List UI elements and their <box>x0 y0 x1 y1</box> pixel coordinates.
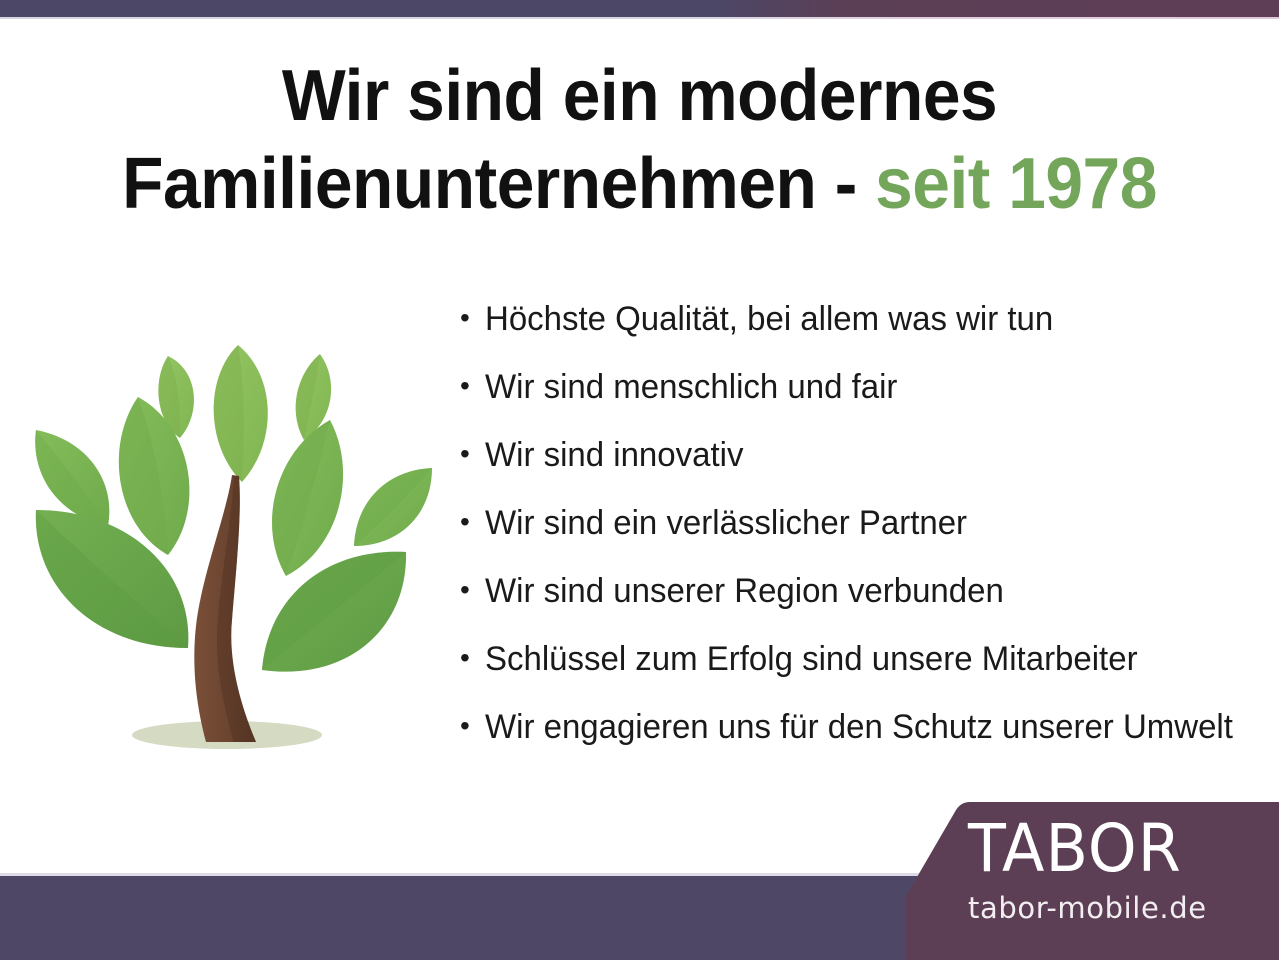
title-line-1: Wir sind ein modernes <box>38 52 1240 140</box>
list-item: • Wir engagieren uns für den Schutz unse… <box>455 706 1265 774</box>
logo-wordmark: TABOR <box>968 815 1268 883</box>
value-bullet-list: • Höchste Qualität, bei allem was wir tu… <box>455 298 1265 774</box>
leaf-far-right-small <box>354 468 432 546</box>
list-item: • Wir sind menschlich und fair <box>455 366 1265 434</box>
list-item-label: Schlüssel zum Erfolg sind unsere Mitarbe… <box>485 638 1242 680</box>
bullet-dot-icon: • <box>455 298 485 338</box>
bullet-dot-icon: • <box>455 366 485 406</box>
list-item: • Wir sind unserer Region verbunden <box>455 570 1265 638</box>
bullet-dot-icon: • <box>455 502 485 542</box>
bullet-dot-icon: • <box>455 706 485 746</box>
list-item-label: Wir sind ein verlässlicher Partner <box>485 502 1242 544</box>
list-item: • Höchste Qualität, bei allem was wir tu… <box>455 298 1265 366</box>
list-item: • Schlüssel zum Erfolg sind unsere Mitar… <box>455 638 1265 706</box>
tree-illustration-svg <box>20 330 450 760</box>
tree-trunk <box>194 475 256 742</box>
title-line-2-main: Familienunternehmen - <box>122 144 875 224</box>
list-item-label: Wir sind menschlich und fair <box>485 366 1242 408</box>
tree-illustration <box>20 330 450 760</box>
list-item-label: Wir sind innovativ <box>485 434 1242 476</box>
bullet-dot-icon: • <box>455 434 485 474</box>
title-accent-since-1978: seit 1978 <box>875 144 1157 224</box>
top-accent-bar-underline <box>0 17 1279 19</box>
bullet-dot-icon: • <box>455 570 485 610</box>
logo-lockup[interactable]: TABOR tabor-mobile.de <box>968 815 1268 927</box>
list-item: • Wir sind ein verlässlicher Partner <box>455 502 1265 570</box>
list-item: • Wir sind innovativ <box>455 434 1265 502</box>
leaf-upper-right <box>272 420 343 576</box>
top-accent-bar <box>0 0 1279 17</box>
list-item-label: Höchste Qualität, bei allem was wir tun <box>485 298 1242 340</box>
slide-canvas: Wir sind ein modernes Familienunternehme… <box>0 0 1279 960</box>
title-line-2: Familienunternehmen - seit 1978 <box>38 140 1240 228</box>
logo-tagline: tabor-mobile.de <box>968 889 1268 927</box>
page-title: Wir sind ein modernes Familienunternehme… <box>0 52 1279 228</box>
list-item-label: Wir sind unserer Region verbunden <box>485 570 1242 612</box>
bullet-dot-icon: • <box>455 638 485 678</box>
list-item-label: Wir engagieren uns für den Schutz unsere… <box>485 706 1242 748</box>
leaf-top-center <box>214 345 268 482</box>
